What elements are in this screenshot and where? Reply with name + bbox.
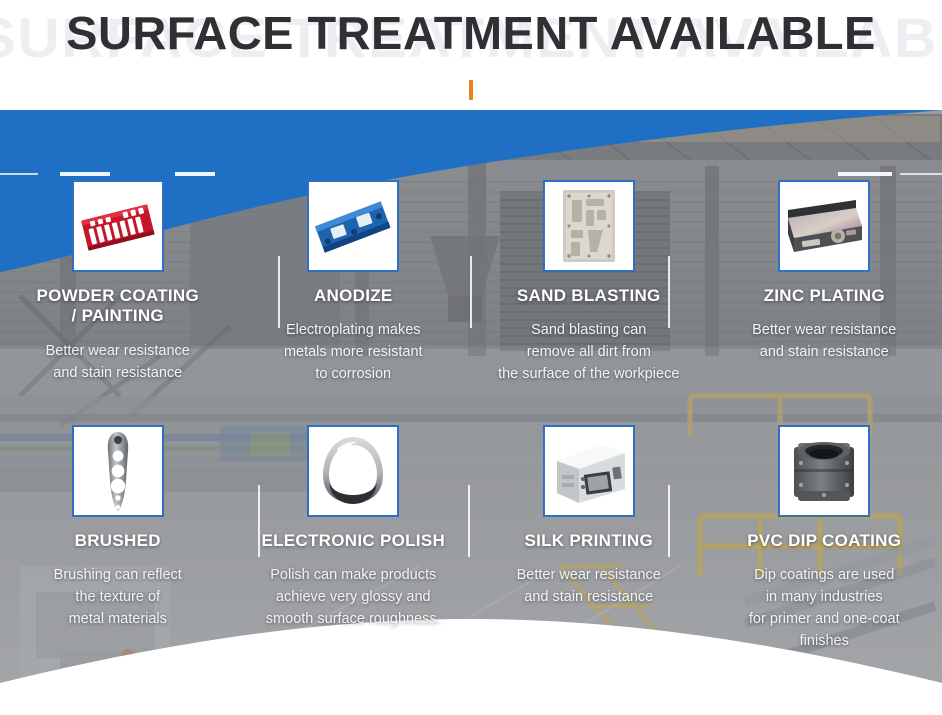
- treatment-card-sand-blasting[interactable]: SAND BLASTING Sand blasting can remove a…: [471, 180, 707, 425]
- treatment-card-description: Better wear resistance and stain resista…: [46, 341, 190, 385]
- treatment-card-title: ZINC PLATING: [764, 286, 885, 306]
- treatment-card-silk-printing[interactable]: SILK PRINTING Better wear resistance and…: [471, 425, 707, 675]
- silk-printing-thumbnail: [543, 425, 635, 517]
- row-separator-line: [0, 173, 38, 175]
- card-divider-vertical: [668, 256, 670, 328]
- treatment-card-anodize[interactable]: ANODIZE Electroplating makes metals more…: [236, 180, 472, 425]
- row-separator-dash: [175, 172, 215, 176]
- powder-coating-thumbnail: [72, 180, 164, 272]
- card-divider-vertical: [258, 485, 260, 557]
- treatment-card-brushed[interactable]: BRUSHED Brushing can reflect the texture…: [0, 425, 236, 675]
- treatment-card-description: Better wear resistance and stain resista…: [752, 320, 896, 364]
- treatment-card-title: POWDER COATING / PAINTING: [36, 286, 199, 327]
- card-divider-vertical: [668, 485, 670, 557]
- treatment-card-description: Better wear resistance and stain resista…: [517, 565, 661, 609]
- treatment-card-title: SAND BLASTING: [517, 286, 661, 306]
- treatment-card-description: Electroplating makes metals more resista…: [284, 320, 423, 385]
- treatment-card-title: ANODIZE: [314, 286, 393, 306]
- treatment-card-pvc-dip-coating[interactable]: PVC DIP COATING Dip coatings are used in…: [707, 425, 942, 675]
- anodize-thumbnail: [307, 180, 399, 272]
- treatment-card-grid: POWDER COATING / PAINTING Better wear re…: [0, 180, 942, 675]
- card-divider-vertical: [278, 256, 280, 328]
- treatment-card-title: BRUSHED: [75, 531, 161, 551]
- row-separator-dash: [60, 172, 110, 176]
- electronic-polish-thumbnail: [307, 425, 399, 517]
- pvc-dip-coating-thumbnail: [778, 425, 870, 517]
- surface-treatment-poster: SURFACE TREATMENT AVAILABLE SURFACE TREA…: [0, 0, 942, 715]
- zinc-plating-thumbnail: [778, 180, 870, 272]
- treatment-card-description: Brushing can reflect the texture of meta…: [54, 565, 182, 630]
- card-divider-vertical: [470, 256, 472, 328]
- treatment-card-zinc-plating[interactable]: ZINC PLATING Better wear resistance and …: [707, 180, 942, 425]
- orange-accent-tick: [469, 80, 473, 100]
- card-divider-vertical: [468, 485, 470, 557]
- row-separator-line: [900, 173, 942, 175]
- treatment-card-description: Polish can make products achieve very gl…: [266, 565, 441, 630]
- treatment-card-powder-coating[interactable]: POWDER COATING / PAINTING Better wear re…: [0, 180, 236, 425]
- brushed-thumbnail: [72, 425, 164, 517]
- sand-blasting-thumbnail: [543, 180, 635, 272]
- treatment-card-electronic-polish[interactable]: ELECTRONIC POLISH Polish can make produc…: [236, 425, 472, 675]
- treatment-card-title: PVC DIP COATING: [747, 531, 901, 551]
- page-title: SURFACE TREATMENT AVAILABLE: [0, 8, 942, 59]
- poster-header: SURFACE TREATMENT AVAILABLE SURFACE TREA…: [0, 0, 942, 110]
- treatment-card-description: Sand blasting can remove all dirt from t…: [498, 320, 679, 385]
- treatment-card-description: Dip coatings are used in many industries…: [749, 565, 900, 652]
- treatment-card-title: ELECTRONIC POLISH: [261, 531, 445, 551]
- row-separator-dash: [838, 172, 892, 176]
- treatment-row-1: POWDER COATING / PAINTING Better wear re…: [0, 180, 942, 425]
- treatment-card-title: SILK PRINTING: [524, 531, 653, 551]
- treatment-row-2: BRUSHED Brushing can reflect the texture…: [0, 425, 942, 675]
